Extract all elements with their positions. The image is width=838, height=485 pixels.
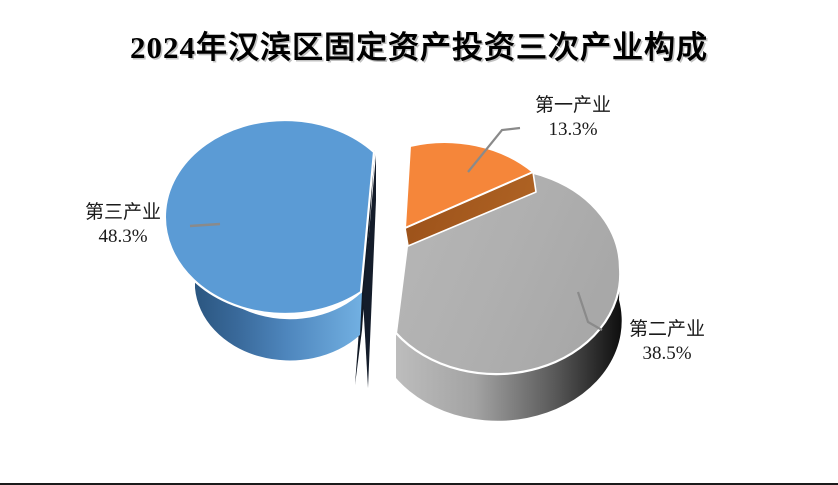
data-label-third-industry: 第三产业 48.3% <box>58 201 188 249</box>
data-label-third-industry-name: 第三产业 <box>58 201 188 225</box>
data-label-second-industry-name: 第二产业 <box>602 318 732 342</box>
chart-frame: 2024年汉滨区固定资产投资三次产业构成 <box>0 0 838 485</box>
data-label-second-industry-value: 38.5% <box>602 342 732 366</box>
pie-slice-third-industry[interactable] <box>165 120 376 388</box>
data-label-first-industry-name: 第一产业 <box>508 94 638 118</box>
data-label-first-industry: 第一产业 13.3% <box>508 94 638 142</box>
data-label-third-industry-value: 48.3% <box>58 225 188 249</box>
data-label-first-industry-value: 13.3% <box>508 118 638 142</box>
data-label-second-industry: 第二产业 38.5% <box>602 318 732 366</box>
